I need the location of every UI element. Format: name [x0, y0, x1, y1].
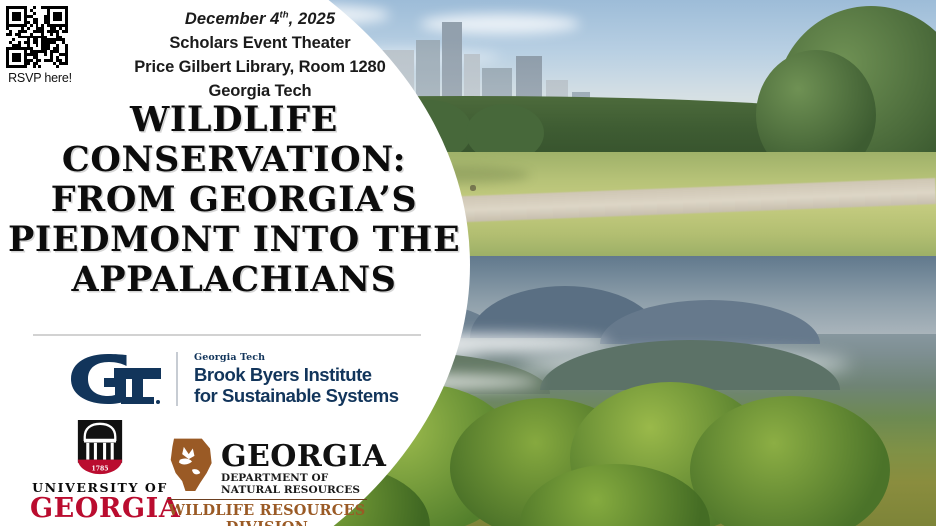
bbiss-line-2: for Sustainable Systems: [194, 386, 399, 407]
rsvp-qr-block[interactable]: RSVP here!: [4, 4, 76, 85]
logo-georgia-dnr: GEORGIA DEPARTMENT OF NATURAL RESOURCES …: [167, 437, 367, 526]
logo-georgia-tech-bbiss: Georgia Tech Brook Byers Institute for S…: [62, 350, 399, 408]
dnr-division: WILDLIFE RESOURCES DIVISION: [167, 502, 367, 526]
uga-line-2: GEORGIA: [30, 495, 170, 523]
georgia-state-deer-icon: [167, 437, 217, 491]
bbiss-wordmark: Georgia Tech Brook Byers Institute for S…: [194, 352, 399, 407]
dnr-title: GEORGIA: [221, 443, 386, 471]
dnr-wordmark: GEORGIA DEPARTMENT OF NATURAL RESOURCES: [221, 437, 386, 496]
event-poster: RSVP here! December 4th, 2025 Scholars E…: [0, 0, 936, 526]
logo-university-of-georgia: 1785 UNIVERSITY OF GEORGIA: [30, 420, 170, 523]
bbiss-line-1: Brook Byers Institute: [194, 365, 399, 386]
dnr-subtitle: DEPARTMENT OF NATURAL RESOURCES: [221, 472, 386, 496]
divider: [33, 334, 421, 336]
gt-eyebrow: Georgia Tech: [194, 352, 399, 363]
title-line-3: FROM GEORGIA’S: [8, 180, 460, 220]
poster-content: RSVP here! December 4th, 2025 Scholars E…: [0, 0, 470, 526]
qr-code-icon[interactable]: [4, 4, 70, 70]
dnr-divider: [167, 499, 367, 501]
logo-divider: [176, 352, 178, 406]
svg-text:1785: 1785: [92, 465, 109, 472]
title-line-4: PIEDMONT INTO THE: [8, 220, 460, 260]
page-title: WILDLIFE CONSERVATION: FROM GEORGIA’S PI…: [8, 100, 460, 299]
uga-arch-icon: 1785: [73, 420, 127, 478]
event-room: Price Gilbert Library, Room 1280: [110, 56, 410, 80]
gt-monogram-icon: [62, 350, 162, 408]
title-line-5: APPALACHIANS: [8, 260, 460, 300]
rsvp-label: RSVP here!: [4, 71, 76, 85]
event-date: December 4th, 2025: [110, 8, 410, 32]
event-venue: Scholars Event Theater: [110, 32, 410, 56]
event-details: December 4th, 2025 Scholars Event Theate…: [110, 8, 410, 104]
title-line-2: CONSERVATION:: [8, 140, 460, 180]
title-line-1: WILDLIFE: [8, 100, 460, 140]
dnr-top-row: GEORGIA DEPARTMENT OF NATURAL RESOURCES: [167, 437, 367, 496]
